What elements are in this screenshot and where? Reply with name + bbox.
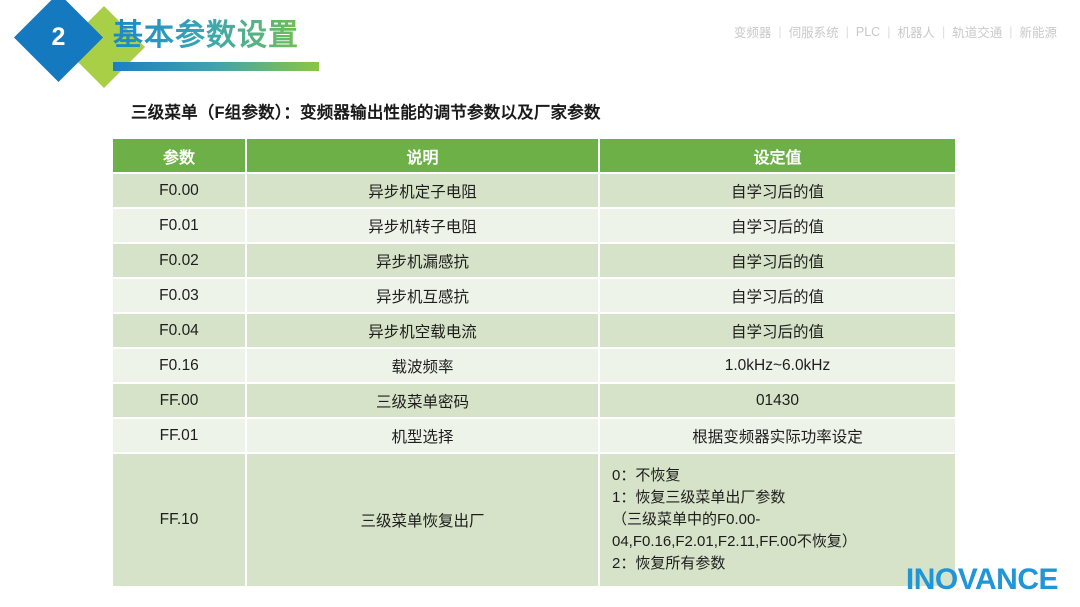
cell-value: 自学习后的值 [600,244,955,279]
title-block: 基本参数设置 [113,16,319,71]
cell-param: F0.01 [113,209,247,244]
nav-item-4[interactable]: 轨道交通 [945,22,1009,41]
top-navigation[interactable]: 变频器 | 伺服系统 | PLC | 机器人 | 轨道交通 | 新能源 [727,22,1064,41]
cell-desc: 三级菜单密码 [247,384,600,419]
nav-item-0[interactable]: 变频器 [727,22,779,41]
cell-param: FF.00 [113,384,247,419]
table-header-row: 参数 说明 设定值 [113,139,955,174]
cell-param: F0.00 [113,174,247,209]
column-header-param: 参数 [113,139,247,174]
cell-value: 自学习后的值 [600,279,955,314]
column-header-value: 设定值 [600,139,955,174]
cell-desc: 异步机空载电流 [247,314,600,349]
table-row: F0.16 载波频率 1.0kHz~6.0kHz [113,349,955,384]
nav-item-3[interactable]: 机器人 [890,22,942,41]
cell-param: F0.02 [113,244,247,279]
table-row: F0.00 异步机定子电阻 自学习后的值 [113,174,955,209]
cell-value: 1.0kHz~6.0kHz [600,349,955,384]
cell-desc: 三级菜单恢复出厂 [247,454,600,588]
cell-param: FF.01 [113,419,247,454]
column-header-desc: 说明 [247,139,600,174]
table-row: FF.00 三级菜单密码 01430 [113,384,955,419]
badge-number: 2 [27,6,90,69]
table-row: F0.04 异步机空载电流 自学习后的值 [113,314,955,349]
parameter-table: 参数 说明 设定值 F0.00 异步机定子电阻 自学习后的值 F0.01 异步机… [113,139,955,588]
table-row: F0.02 异步机漏感抗 自学习后的值 [113,244,955,279]
cell-param: FF.10 [113,454,247,588]
nav-item-2[interactable]: PLC [849,25,887,39]
cell-desc: 异步机转子电阻 [247,209,600,244]
cell-desc: 异步机漏感抗 [247,244,600,279]
section-subtitle: 三级菜单（F组参数）：变频器输出性能的调节参数以及厂家参数 [131,99,601,123]
cell-desc: 载波频率 [247,349,600,384]
slide-header: 2 基本参数设置 变频器 | 伺服系统 | PLC | 机器人 | 轨道交通 |… [0,0,1080,92]
title-underline-bar [113,62,319,71]
table-row: FF.10 三级菜单恢复出厂 0：不恢复 1：恢复三级菜单出厂参数 （三级菜单中… [113,454,955,588]
cell-value: 0：不恢复 1：恢复三级菜单出厂参数 （三级菜单中的F0.00- 04,F0.1… [600,454,955,588]
table-row: F0.03 异步机互感抗 自学习后的值 [113,279,955,314]
cell-value: 自学习后的值 [600,174,955,209]
inovance-logo: INOVANCE [906,563,1058,597]
cell-value: 根据变频器实际功率设定 [600,419,955,454]
page-title: 基本参数设置 [113,16,319,56]
table-row: F0.01 异步机转子电阻 自学习后的值 [113,209,955,244]
cell-param: F0.16 [113,349,247,384]
cell-value: 01430 [600,384,955,419]
cell-value: 自学习后的值 [600,209,955,244]
cell-param: F0.03 [113,279,247,314]
table-row: FF.01 机型选择 根据变频器实际功率设定 [113,419,955,454]
cell-desc: 异步机互感抗 [247,279,600,314]
nav-item-5[interactable]: 新能源 [1012,22,1064,41]
cell-value: 自学习后的值 [600,314,955,349]
cell-param: F0.04 [113,314,247,349]
cell-desc: 机型选择 [247,419,600,454]
nav-item-1[interactable]: 伺服系统 [782,22,846,41]
cell-desc: 异步机定子电阻 [247,174,600,209]
